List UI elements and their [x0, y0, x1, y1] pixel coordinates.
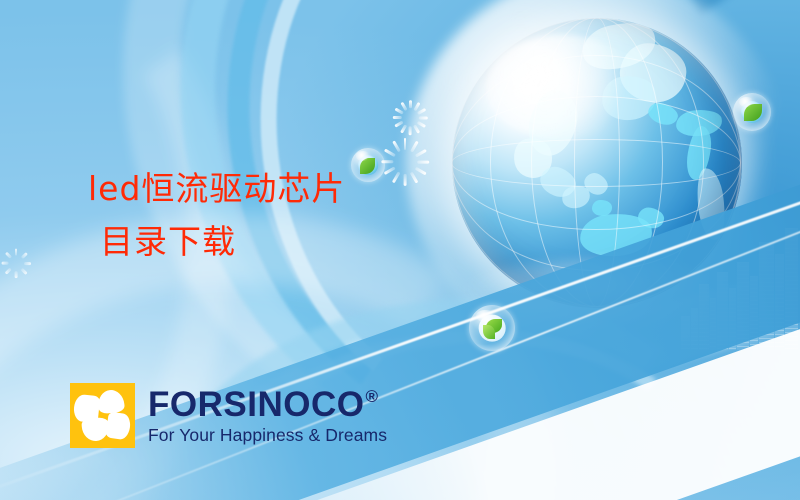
sparkle-star [8, 248, 24, 264]
flower-petal [105, 412, 131, 441]
headline-line-1: led恒流驱动芯片 [88, 169, 345, 208]
headline-line-2: 目录下载 [100, 215, 345, 268]
brand-logo[interactable]: FORSINOCO ® For Your Happiness & Dreams [70, 383, 387, 448]
flower-petal [97, 389, 125, 415]
headline: led恒流驱动芯片 目录下载 [88, 162, 345, 269]
forsinoco-flower-mark-icon [70, 383, 135, 448]
brand-name: FORSINOCO [148, 387, 364, 422]
bubble-gloss [476, 310, 494, 323]
flower-petal [73, 394, 101, 423]
globe-specular-highlight [487, 35, 638, 139]
bubble-inner-leaf [483, 325, 495, 339]
brand-logo-text: FORSINOCO ® For Your Happiness & Dreams [148, 387, 387, 445]
bubble-globe-small [351, 148, 385, 182]
brand-name-row: FORSINOCO ® [148, 387, 387, 422]
registered-trademark-icon: ® [365, 388, 378, 405]
bubble-globe-corner [733, 93, 771, 131]
sparkle-star [401, 99, 420, 118]
sparkle-star [392, 137, 418, 163]
bubble-leaf [469, 305, 515, 351]
bubble-gloss [356, 151, 370, 161]
brand-tagline: For Your Happiness & Dreams [148, 427, 387, 445]
promo-banner: led恒流驱动芯片 目录下载 FORSINOCO ® For Your Happ… [0, 0, 800, 500]
